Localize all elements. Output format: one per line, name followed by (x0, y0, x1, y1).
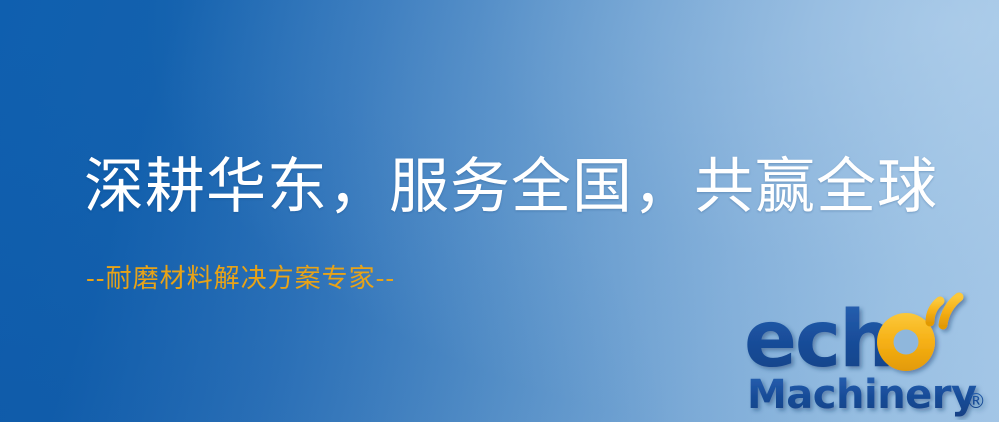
logo-trademark-symbol: ® (966, 389, 986, 413)
logo-tagline: Machinery (747, 372, 977, 418)
logo-signal-waves-icon (930, 297, 959, 325)
banner-subtitle: --耐磨材料解决方案专家-- (86, 265, 395, 294)
promo-banner: 深耕华东，服务全国，共赢全球 --耐磨材料解决方案专家-- (0, 0, 999, 422)
echo-machinery-logo[interactable]: ech Machinery ® (744, 292, 996, 420)
page-title: 深耕华东，服务全国，共赢全球 (84, 155, 938, 220)
